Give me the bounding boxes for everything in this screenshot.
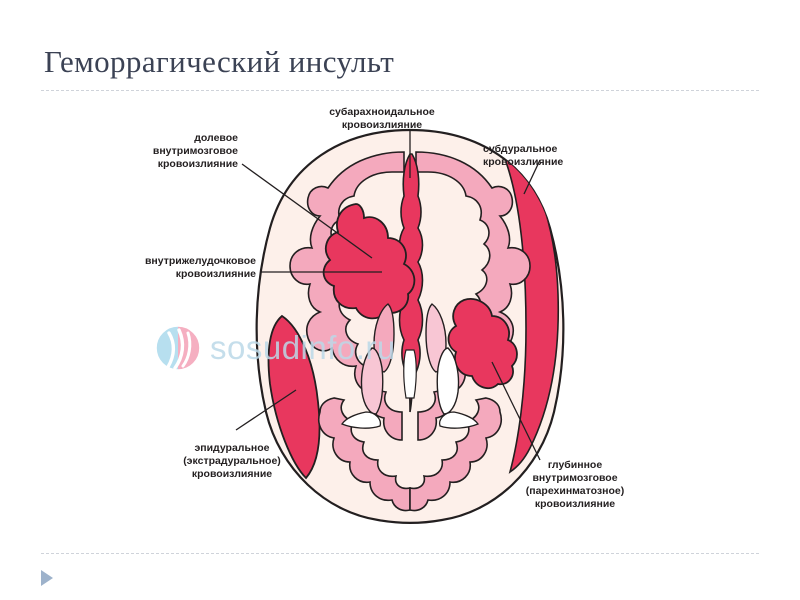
label-epidural-line3: кровоизлияние (138, 468, 326, 481)
label-epidural-line1: эпидуральное (138, 442, 326, 455)
label-subarachnoid-line1: субарахноидальное (292, 106, 472, 119)
label-subdural: субдуральное кровоизлияние (483, 143, 653, 169)
title-divider-top (41, 90, 759, 91)
label-intraventricular-line2: кровоизлияние (60, 268, 256, 281)
label-lobar-line2: внутримозговое (68, 145, 238, 158)
page-title: Геморрагический инсульт (44, 44, 394, 80)
label-epidural-line2: (экстрадуральное) (138, 455, 326, 468)
label-deep-intracerebral: глубинное внутримозговое (парехинматозно… (475, 459, 675, 511)
label-intraventricular: внутрижелудочковое кровоизлияние (60, 255, 256, 281)
label-deep-line4: кровоизлияние (475, 498, 675, 511)
label-intraventricular-line1: внутрижелудочковое (60, 255, 256, 268)
label-subarachnoid-line2: кровоизлияние (292, 119, 472, 132)
divider-bottom (41, 553, 759, 554)
label-subdural-line1: субдуральное (483, 143, 653, 156)
label-deep-line2: внутримозговое (475, 472, 675, 485)
brain-diagram-figure: субарахноидальное кровоизлияние долевое … (120, 112, 700, 542)
bullet-triangle-icon (41, 570, 53, 586)
label-lobar-line1: долевое (68, 132, 238, 145)
label-deep-line1: глубинное (475, 459, 675, 472)
label-subdural-line2: кровоизлияние (483, 156, 653, 169)
label-deep-line3: (парехинматозное) (475, 485, 675, 498)
slide: Геморрагический инсульт (0, 0, 800, 600)
label-lobar-intracerebral: долевое внутримозговое кровоизлияние (68, 132, 238, 171)
label-lobar-line3: кровоизлияние (68, 158, 238, 171)
label-subarachnoid: субарахноидальное кровоизлияние (292, 106, 472, 132)
label-epidural: эпидуральное (экстрадуральное) кровоизли… (138, 442, 326, 481)
